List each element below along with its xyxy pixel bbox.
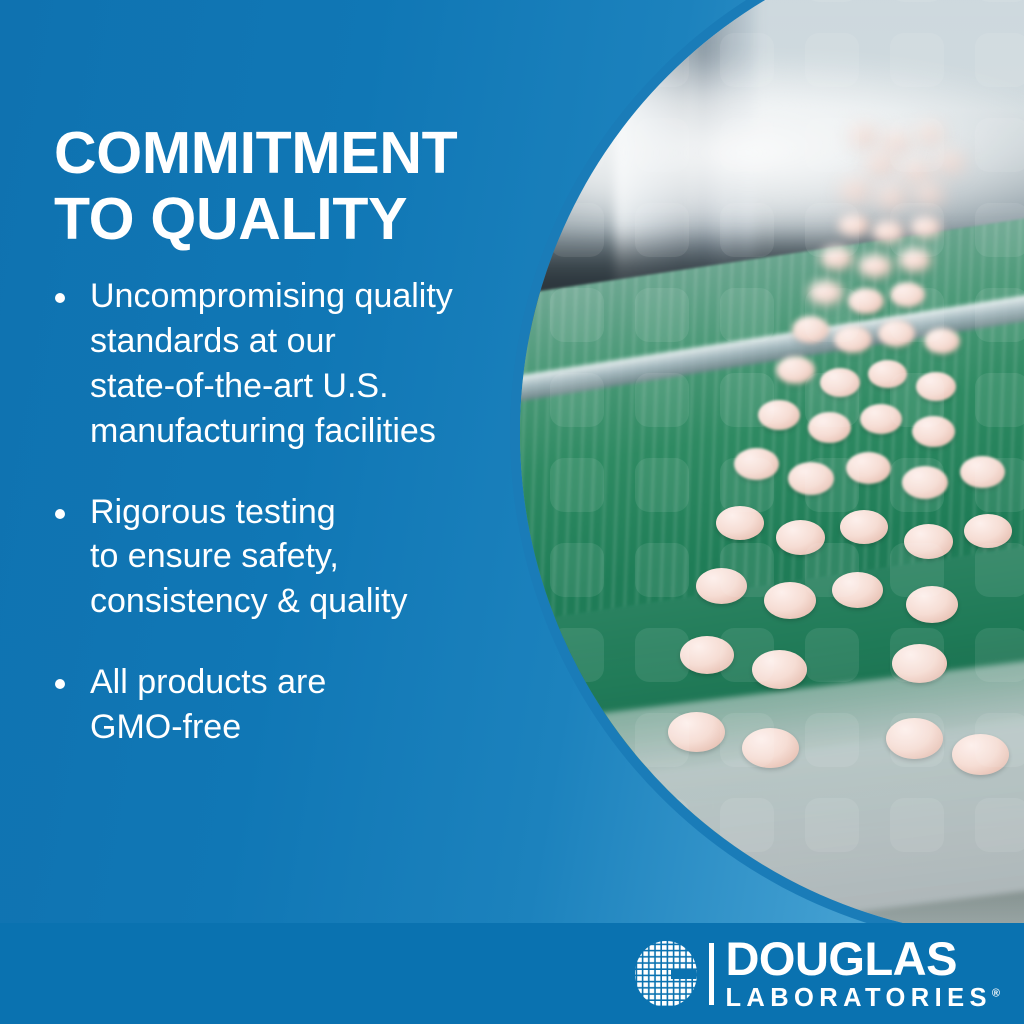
photo-disc [520,0,1024,938]
logo-secondary-label: LABORATORIES [725,984,991,1012]
bullet-dot-icon [55,509,65,519]
list-item-line: standards at our [90,319,548,364]
headline-line-2: TO QUALITY [54,186,574,252]
list-item-text: All products are GMO-free [90,660,548,750]
list-item-line: Rigorous testing [90,490,548,535]
registered-trademark-icon: ® [992,988,1000,1000]
marketing-graphic: COMMITMENT TO QUALITY Uncompromising qua… [0,0,1024,1024]
headline-line-1: COMMITMENT [54,120,574,186]
photo-depth-veil [520,0,1024,938]
logo-primary-text: DOUGLAS [725,936,1000,981]
list-item-line: All products are [90,660,548,705]
list-item-line: state-of-the-art U.S. [90,364,548,409]
logo-wordmark: DOUGLAS LABORATORIES® [725,936,1000,1012]
list-item: All products are GMO-free [48,660,548,750]
list-item-line: Uncompromising quality [90,274,548,319]
list-item: Rigorous testing to ensure safety, consi… [48,490,548,625]
bullet-dot-icon [55,293,65,303]
list-item-line: consistency & quality [90,579,548,624]
brand-logo: DOUGLAS LABORATORIES® [631,932,1000,1016]
list-item-text: Uncompromising quality standards at our … [90,274,548,454]
factory-photo [520,0,1024,938]
list-item-text: Rigorous testing to ensure safety, consi… [90,490,548,625]
logo-secondary-text: LABORATORIES® [725,984,1000,1012]
logo-divider [709,943,714,1005]
bullet-dot-icon [55,679,65,689]
page-title: COMMITMENT TO QUALITY [54,120,574,252]
list-item: Uncompromising quality standards at our … [48,274,548,454]
footer-bar: DOUGLAS LABORATORIES® [0,923,1024,1024]
list-item-line: to ensure safety, [90,534,548,579]
quality-bullet-list: Uncompromising quality standards at our … [48,274,548,750]
list-item-line: manufacturing facilities [90,409,548,454]
list-item-line: GMO-free [90,705,548,750]
douglas-g-mark-icon [631,939,701,1009]
